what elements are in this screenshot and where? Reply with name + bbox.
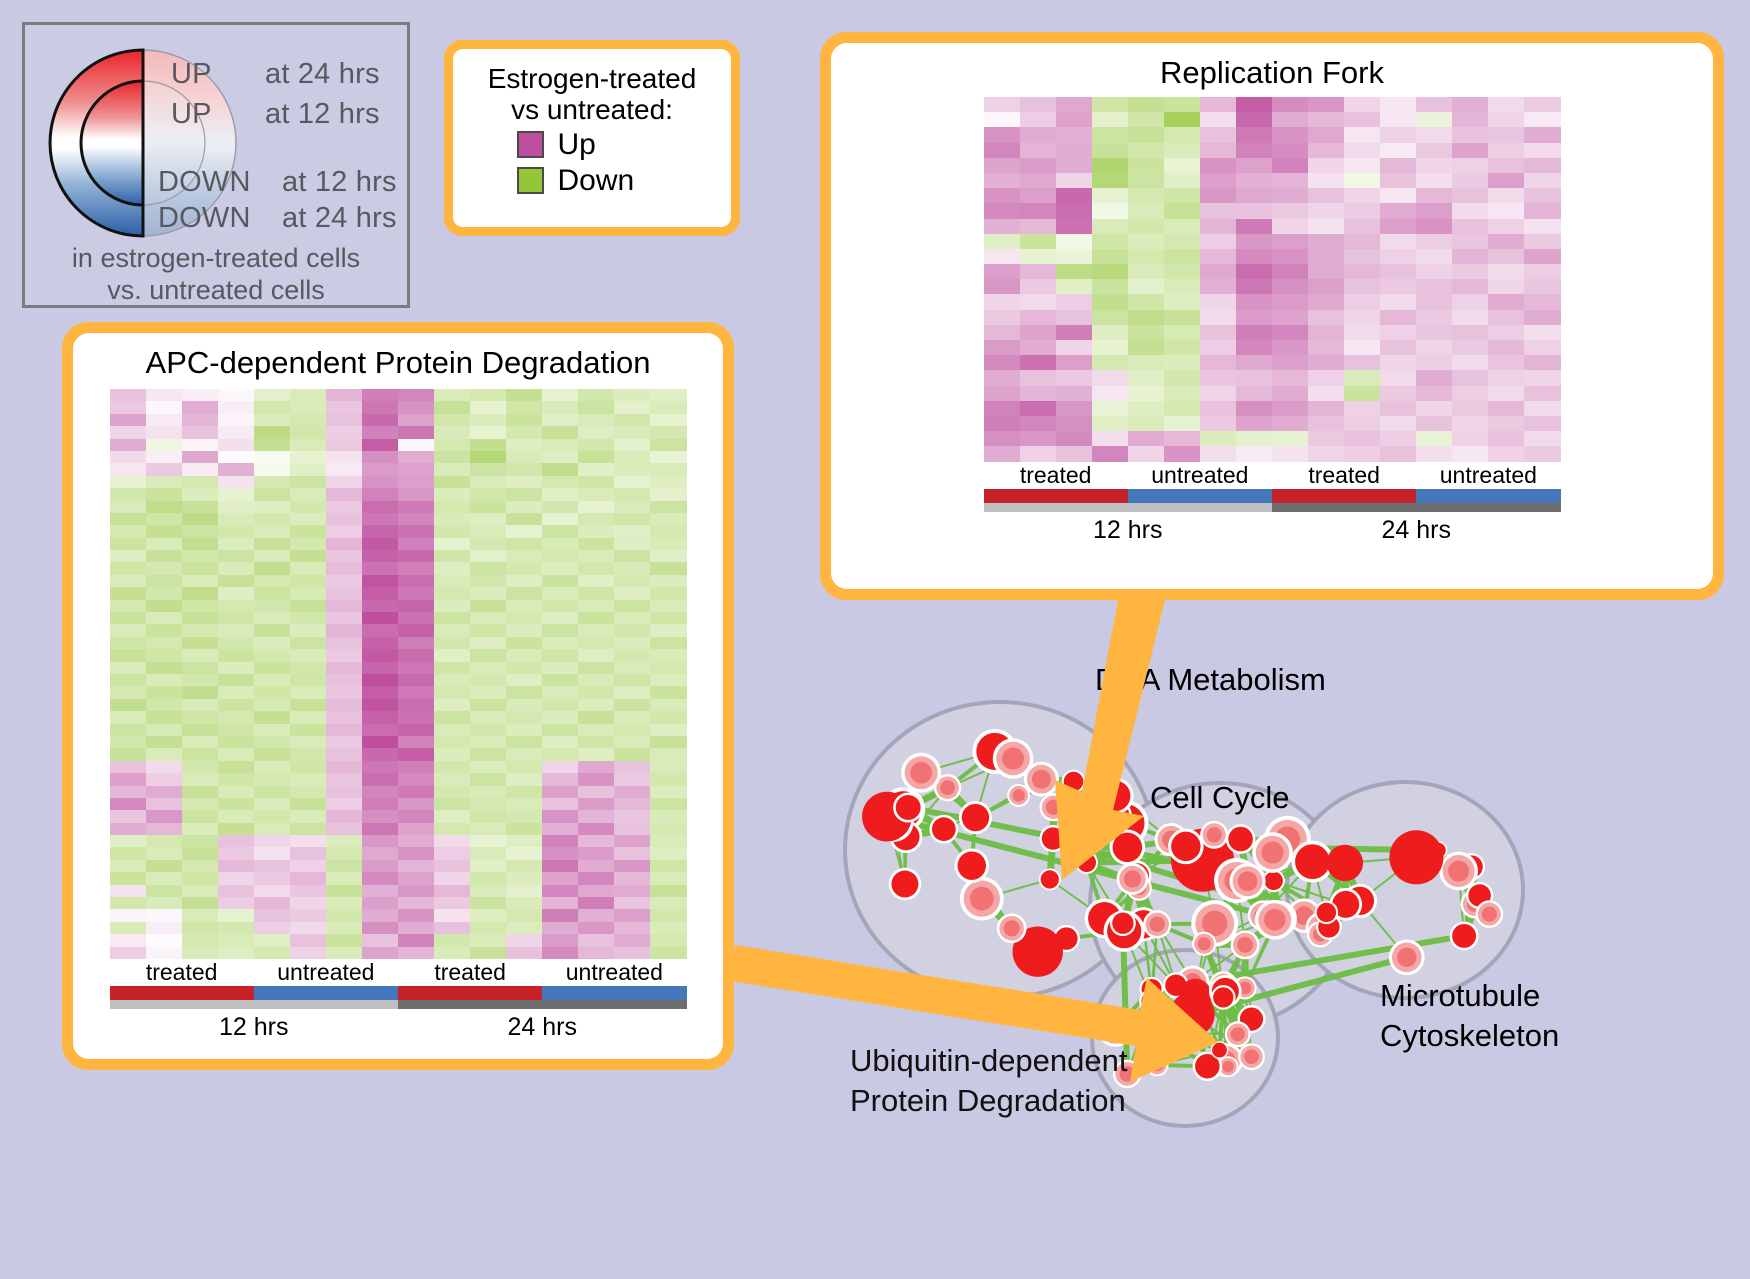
heatmap-cell — [290, 612, 326, 624]
heatmap-cell — [614, 513, 650, 525]
heatmap-cell — [1236, 355, 1272, 370]
heatmap-cell — [290, 761, 326, 773]
heatmap-cell — [182, 414, 218, 426]
heatmap-cell — [1128, 310, 1164, 325]
heatmap-cell — [218, 637, 254, 649]
heatmap-cell — [984, 234, 1020, 249]
heatmap-cell — [182, 389, 218, 401]
heatmap-cell — [650, 748, 686, 760]
heatmap-cell — [578, 748, 614, 760]
heatmap-cell — [650, 823, 686, 835]
heatmap-cell — [1020, 325, 1056, 340]
heatmap-cell — [1488, 310, 1524, 325]
network-node — [1238, 872, 1258, 892]
heatmap-cell — [578, 501, 614, 513]
heatmap-cell — [1272, 340, 1308, 355]
heatmap-cell — [398, 637, 434, 649]
heatmap-cell — [470, 736, 506, 748]
heatmap-cell — [290, 476, 326, 488]
heatmap-cell — [1236, 219, 1272, 234]
heatmap-cell — [110, 786, 146, 798]
heatmap-cell — [254, 736, 290, 748]
heatmap-cell — [542, 748, 578, 760]
heatmap-cell — [182, 575, 218, 587]
heatmap-cell — [614, 897, 650, 909]
apc-degradation-heatmap — [110, 389, 687, 959]
heatmap-cell — [470, 612, 506, 624]
heatmap-cell — [218, 538, 254, 550]
heatmap-cell — [1308, 112, 1344, 127]
heatmap-cell — [1488, 279, 1524, 294]
heatmap-cell — [542, 401, 578, 413]
condition-label: treated — [398, 959, 542, 986]
heatmap-cell — [1056, 355, 1092, 370]
heatmap-cell — [1128, 355, 1164, 370]
ring-sublabel-down-12: at 12 hrs — [282, 166, 397, 199]
heatmap-cell — [542, 389, 578, 401]
heatmap-cell — [1200, 127, 1236, 142]
heatmap-cell — [542, 909, 578, 921]
heatmap-cell — [290, 773, 326, 785]
heatmap-cell — [1272, 325, 1308, 340]
heatmap-cell — [984, 158, 1020, 173]
heatmap-cell — [182, 488, 218, 500]
heatmap-cell — [614, 909, 650, 921]
heatmap-cell — [1416, 294, 1452, 309]
heatmap-cell — [614, 575, 650, 587]
network-node — [900, 799, 916, 815]
heatmap-cell — [1524, 97, 1560, 112]
heatmap-cell — [1200, 325, 1236, 340]
heatmap-cell — [650, 587, 686, 599]
heatmap-cell — [1524, 112, 1560, 127]
heatmap-cell — [1236, 416, 1272, 431]
heatmap-cell — [578, 934, 614, 946]
heatmap-cell — [1452, 310, 1488, 325]
heatmap-cell — [1128, 112, 1164, 127]
heatmap-cell — [110, 674, 146, 686]
heatmap-cell — [362, 612, 398, 624]
heatmap-cell — [614, 439, 650, 451]
network-node — [1046, 831, 1061, 846]
heatmap-cell — [542, 525, 578, 537]
heatmap-cell — [362, 587, 398, 599]
heatmap-cell — [1164, 370, 1200, 385]
network-node — [1456, 928, 1472, 944]
heatmap-cell — [1380, 234, 1416, 249]
heatmap-cell — [146, 823, 182, 835]
heatmap-cell — [1020, 279, 1056, 294]
heatmap-cell — [434, 897, 470, 909]
network-node — [962, 856, 981, 875]
heatmap-cell — [984, 112, 1020, 127]
heatmap-cell — [434, 562, 470, 574]
heatmap-cell — [290, 513, 326, 525]
heatmap-cell — [506, 637, 542, 649]
heatmap-cell — [614, 835, 650, 847]
heatmap-cell — [1236, 158, 1272, 173]
heatmap-cell — [182, 724, 218, 736]
heatmap-cell — [1056, 203, 1092, 218]
heatmap-cell — [326, 525, 362, 537]
heatmap-cell — [506, 525, 542, 537]
heatmap-cell — [218, 426, 254, 438]
heatmap-cell — [1272, 188, 1308, 203]
heatmap-cell — [1308, 97, 1344, 112]
heatmap-cell — [182, 835, 218, 847]
heatmap-cell — [254, 513, 290, 525]
heatmap-cell — [398, 798, 434, 810]
heatmap-cell — [146, 501, 182, 513]
heatmap-cell — [398, 476, 434, 488]
condition-label: treated — [110, 959, 254, 986]
down-color-swatch — [517, 167, 544, 194]
heatmap-cell — [650, 525, 686, 537]
heatmap-cell — [182, 426, 218, 438]
heatmap-cell — [110, 847, 146, 859]
heatmap-cell — [110, 748, 146, 760]
heatmap-cell — [362, 699, 398, 711]
heatmap-cell — [290, 748, 326, 760]
heatmap-cell — [254, 847, 290, 859]
heatmap-cell — [434, 711, 470, 723]
heatmap-cell — [1524, 386, 1560, 401]
heatmap-cell — [254, 674, 290, 686]
heatmap-cell — [362, 501, 398, 513]
heatmap-cell — [326, 637, 362, 649]
heatmap-cell — [434, 513, 470, 525]
heatmap-cell — [506, 612, 542, 624]
heatmap-cell — [398, 662, 434, 674]
heatmap-cell — [434, 674, 470, 686]
heatmap-cell — [398, 550, 434, 562]
heatmap-cell — [110, 885, 146, 897]
heatmap-cell — [1200, 264, 1236, 279]
heatmap-cell — [1524, 370, 1560, 385]
heatmap-cell — [254, 389, 290, 401]
heatmap-cell — [506, 897, 542, 909]
heatmap-cell — [506, 773, 542, 785]
heatmap-cell — [1344, 249, 1380, 264]
heatmap-cell — [542, 439, 578, 451]
heatmap-cell — [614, 860, 650, 872]
heatmap-cell — [578, 885, 614, 897]
ring-label-up-12: UP — [171, 98, 212, 131]
network-node — [970, 887, 994, 911]
heatmap-cell — [1164, 401, 1200, 416]
heatmap-cell — [1164, 294, 1200, 309]
heatmap-cell — [1236, 325, 1272, 340]
heatmap-cell — [1164, 234, 1200, 249]
heatmap-cell — [578, 414, 614, 426]
heatmap-cell — [434, 600, 470, 612]
heatmap-cell — [984, 188, 1020, 203]
heatmap-cell — [984, 370, 1020, 385]
heatmap-cell — [1236, 112, 1272, 127]
heatmap-cell — [542, 674, 578, 686]
heatmap-cell — [398, 897, 434, 909]
heatmap-cell — [290, 823, 326, 835]
heatmap-cell — [542, 798, 578, 810]
heatmap-cell — [542, 513, 578, 525]
heatmap-cell — [290, 587, 326, 599]
heatmap-cell — [1236, 310, 1272, 325]
heatmap-cell — [650, 538, 686, 550]
replication-fork-condition-bars — [984, 489, 1561, 503]
heatmap-cell — [1416, 401, 1452, 416]
heatmap-cell — [506, 600, 542, 612]
network-node — [1199, 1058, 1215, 1074]
heatmap-cell — [578, 488, 614, 500]
heatmap-cell — [1344, 416, 1380, 431]
heatmap-cell — [1524, 158, 1560, 173]
legend-title-line1: Estrogen-treated — [463, 63, 721, 94]
heatmap-cell — [1452, 203, 1488, 218]
heatmap-cell — [434, 686, 470, 698]
network-node — [1124, 870, 1141, 887]
heatmap-cell — [146, 550, 182, 562]
heatmap-cell — [470, 426, 506, 438]
heatmap-cell — [146, 686, 182, 698]
heatmap-cell — [362, 624, 398, 636]
heatmap-cell — [362, 711, 398, 723]
timepoint-bar — [398, 1000, 687, 1009]
heatmap-cell — [650, 414, 686, 426]
heatmap-cell — [434, 835, 470, 847]
heatmap-cell — [1308, 203, 1344, 218]
heatmap-cell — [146, 885, 182, 897]
heatmap-cell — [1488, 97, 1524, 112]
heatmap-cell — [1056, 234, 1092, 249]
heatmap-cell — [362, 810, 398, 822]
heatmap-cell — [218, 662, 254, 674]
heatmap-cell — [650, 624, 686, 636]
heatmap-cell — [254, 525, 290, 537]
condition-bar — [110, 986, 254, 1000]
heatmap-cell — [290, 637, 326, 649]
heatmap-cell — [650, 810, 686, 822]
network-node — [1320, 906, 1333, 919]
heatmap-cell — [1452, 279, 1488, 294]
ring-label-down-24: DOWN — [158, 202, 251, 235]
heatmap-cell — [542, 885, 578, 897]
heatmap-cell — [1020, 158, 1056, 173]
heatmap-cell — [398, 686, 434, 698]
heatmap-cell — [1092, 340, 1128, 355]
condition-bar — [542, 986, 686, 1000]
heatmap-cell — [110, 439, 146, 451]
heatmap-cell — [1488, 431, 1524, 446]
heatmap-cell — [470, 748, 506, 760]
heatmap-cell — [290, 451, 326, 463]
heatmap-cell — [362, 897, 398, 909]
heatmap-cell — [434, 798, 470, 810]
heatmap-cell — [326, 538, 362, 550]
heatmap-cell — [182, 600, 218, 612]
heatmap-cell — [290, 736, 326, 748]
network-node — [940, 780, 955, 795]
heatmap-cell — [110, 501, 146, 513]
heatmap-cell — [1128, 279, 1164, 294]
heatmap-cell — [398, 538, 434, 550]
heatmap-cell — [1272, 416, 1308, 431]
heatmap-cell — [614, 501, 650, 513]
heatmap-cell — [254, 575, 290, 587]
heatmap-cell — [218, 649, 254, 661]
heatmap-cell — [398, 699, 434, 711]
network-node — [1080, 856, 1092, 868]
heatmap-cell — [1236, 173, 1272, 188]
heatmap-cell — [1128, 370, 1164, 385]
heatmap-cell — [362, 736, 398, 748]
heatmap-cell — [182, 550, 218, 562]
heatmap-cell — [146, 513, 182, 525]
heatmap-cell — [614, 389, 650, 401]
heatmap-cell — [218, 773, 254, 785]
heatmap-cell — [1020, 203, 1056, 218]
heatmap-cell — [110, 488, 146, 500]
heatmap-cell — [182, 761, 218, 773]
heatmap-cell — [1272, 143, 1308, 158]
heatmap-cell — [326, 872, 362, 884]
heatmap-cell — [650, 562, 686, 574]
heatmap-cell — [398, 525, 434, 537]
heatmap-cell — [470, 587, 506, 599]
heatmap-cell — [470, 637, 506, 649]
heatmap-cell — [506, 922, 542, 934]
heatmap-cell — [542, 711, 578, 723]
heatmap-cell — [362, 823, 398, 835]
heatmap-cell — [218, 439, 254, 451]
heatmap-cell — [1056, 127, 1092, 142]
heatmap-cell — [1380, 386, 1416, 401]
heatmap-cell — [1488, 370, 1524, 385]
heatmap-cell — [218, 699, 254, 711]
heatmap-cell — [146, 612, 182, 624]
network-node — [1389, 830, 1443, 884]
heatmap-cell — [254, 439, 290, 451]
heatmap-cell — [614, 686, 650, 698]
heatmap-cell — [182, 612, 218, 624]
heatmap-cell — [1092, 401, 1128, 416]
heatmap-cell — [1056, 173, 1092, 188]
heatmap-cell — [254, 810, 290, 822]
heatmap-cell — [1020, 127, 1056, 142]
heatmap-cell — [398, 934, 434, 946]
heatmap-cell — [1308, 249, 1344, 264]
heatmap-cell — [1272, 127, 1308, 142]
heatmap-cell — [146, 711, 182, 723]
heatmap-cell — [326, 414, 362, 426]
heatmap-cell — [362, 885, 398, 897]
heatmap-cell — [1488, 112, 1524, 127]
legend-item-down: Down — [463, 164, 721, 198]
heatmap-cell — [254, 909, 290, 921]
heatmap-cell — [1416, 203, 1452, 218]
heatmap-cell — [1380, 188, 1416, 203]
heatmap-cell — [362, 525, 398, 537]
heatmap-cell — [650, 761, 686, 773]
heatmap-cell — [326, 786, 362, 798]
heatmap-cell — [1308, 294, 1344, 309]
heatmap-cell — [398, 711, 434, 723]
heatmap-cell — [182, 847, 218, 859]
heatmap-cell — [1524, 173, 1560, 188]
heatmap-cell — [614, 600, 650, 612]
heatmap-cell — [182, 513, 218, 525]
heatmap-cell — [1164, 203, 1200, 218]
heatmap-cell — [290, 538, 326, 550]
heatmap-cell — [1020, 143, 1056, 158]
heatmap-cell — [326, 897, 362, 909]
heatmap-cell — [1020, 234, 1056, 249]
network-node — [1116, 916, 1130, 930]
heatmap-cell — [398, 885, 434, 897]
heatmap-cell — [1524, 279, 1560, 294]
condition-label: treated — [984, 462, 1128, 489]
heatmap-cell — [182, 909, 218, 921]
heatmap-cell — [362, 947, 398, 959]
heatmap-cell — [182, 649, 218, 661]
heatmap-cell — [1416, 446, 1452, 461]
heatmap-cell — [218, 401, 254, 413]
network-node — [896, 875, 914, 893]
heatmap-cell — [1164, 97, 1200, 112]
heatmap-cell — [362, 451, 398, 463]
heatmap-cell — [1056, 97, 1092, 112]
heatmap-cell — [470, 662, 506, 674]
heatmap-cell — [1200, 431, 1236, 446]
heatmap-cell — [470, 600, 506, 612]
heatmap-cell — [434, 649, 470, 661]
heatmap-cell — [434, 426, 470, 438]
heatmap-cell — [1236, 127, 1272, 142]
heatmap-cell — [290, 488, 326, 500]
network-node — [1231, 1027, 1245, 1041]
heatmap-cell — [326, 947, 362, 959]
apc-condition-labels: treateduntreatedtreateduntreated — [110, 959, 687, 986]
heatmap-cell — [326, 649, 362, 661]
ring-legend-panel: UP at 24 hrs UP at 12 hrs DOWN at 12 hrs… — [22, 22, 410, 308]
heatmap-cell — [470, 847, 506, 859]
heatmap-cell — [290, 922, 326, 934]
heatmap-cell — [614, 476, 650, 488]
heatmap-cell — [290, 835, 326, 847]
heatmap-cell — [984, 386, 1020, 401]
heatmap-cell — [434, 724, 470, 736]
heatmap-cell — [614, 550, 650, 562]
heatmap-cell — [1416, 173, 1452, 188]
heatmap-cell — [542, 835, 578, 847]
heatmap-cell — [290, 525, 326, 537]
heatmap-cell — [1524, 143, 1560, 158]
heatmap-cell — [254, 612, 290, 624]
heatmap-cell — [254, 934, 290, 946]
heatmap-cell — [326, 736, 362, 748]
heatmap-cell — [110, 724, 146, 736]
heatmap-cell — [362, 798, 398, 810]
network-node — [1004, 920, 1020, 936]
heatmap-cell — [146, 860, 182, 872]
heatmap-cell — [650, 550, 686, 562]
network-node — [1118, 838, 1137, 857]
heatmap-cell — [542, 947, 578, 959]
heatmap-cell — [650, 451, 686, 463]
heatmap-cell — [146, 624, 182, 636]
heatmap-cell — [506, 575, 542, 587]
network-node — [1337, 896, 1355, 914]
heatmap-cell — [1236, 143, 1272, 158]
